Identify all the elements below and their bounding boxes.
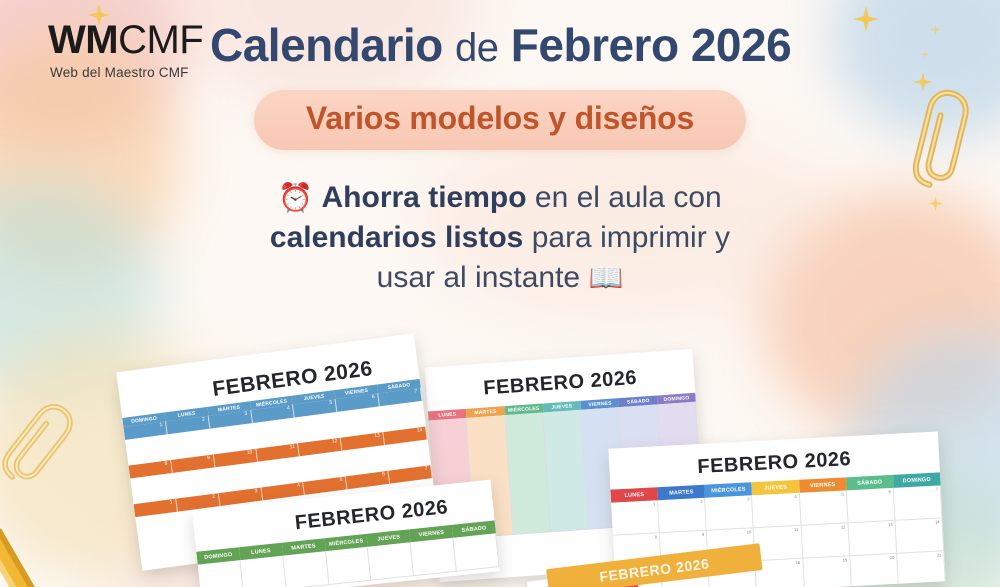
calendar-day-cell: 4 — [752, 493, 801, 528]
promo-paragraph: ⏰ Ahorra tiempo en el aula con calendari… — [170, 178, 830, 298]
calendar-day-cell — [326, 547, 372, 585]
watercolor-blob-mint-left — [0, 180, 160, 400]
calendar-day-cell — [368, 542, 414, 580]
calendar-day-cell — [411, 538, 457, 576]
calendar-day-cell: 3 — [705, 495, 754, 530]
sparkle-icon — [913, 72, 933, 92]
calendar-day-cell — [453, 533, 499, 571]
promo-line-2-bold: calendarios listos — [270, 221, 523, 254]
title-part1: Calendario — [210, 19, 443, 71]
promo-line-2-rest: para imprimir y — [523, 221, 730, 254]
subtitle-label: Varios modelos y diseños — [306, 100, 694, 137]
calendar-day-cell: 13 — [848, 521, 897, 556]
open-book-icon: 📖 — [588, 262, 623, 293]
calendar-day-cell: 7 — [894, 485, 943, 520]
brand-logo: WMCMF Web del Maestro CMF — [48, 20, 203, 80]
page-title: Calendario de Febrero 2026 — [210, 18, 791, 72]
logo-tagline: Web del Maestro CMF — [50, 65, 203, 80]
sparkle-icon — [920, 50, 929, 59]
promo-line-3: usar al instante 📖 — [170, 258, 830, 298]
calendar-day-cell: 11 — [754, 526, 803, 561]
calendar-day-cell: 20 — [850, 554, 899, 587]
calendar-day-cell: 19 — [803, 556, 852, 587]
logo-prefix: WM — [48, 18, 118, 62]
calendar-day-cell: 12 — [801, 523, 850, 558]
title-connector: de — [455, 26, 499, 70]
calendar-day-cell: 2 — [658, 498, 707, 533]
sparkle-icon — [853, 6, 879, 32]
subtitle-pill: Varios modelos y diseños — [254, 90, 746, 150]
promo-line-1-rest: en el aula con — [527, 181, 722, 214]
subtitle-banner: Varios modelos y diseños — [0, 90, 1000, 150]
promo-line-2: calendarios listos para imprimir y — [170, 218, 830, 258]
sparkle-icon — [928, 196, 943, 211]
logo-wordmark: WMCMF — [48, 20, 203, 60]
calendar-day-cell: 5 — [799, 490, 848, 525]
title-part2: Febrero 2026 — [511, 19, 791, 71]
sparkle-icon — [930, 24, 941, 35]
paperclip-icon — [0, 393, 84, 500]
promo-line-1: ⏰ Ahorra tiempo en el aula con — [170, 178, 830, 218]
calendar-day-cell — [240, 556, 286, 587]
calendar-day-cell: 1 — [611, 500, 660, 535]
promo-line-1-bold: Ahorra tiempo — [322, 181, 527, 214]
calendar-day-cell — [283, 551, 329, 587]
calendar-day-cell: 14 — [895, 518, 944, 553]
logo-suffix: CMF — [118, 18, 203, 62]
calendar-day-cell — [198, 560, 244, 587]
pencil-icon — [0, 501, 83, 587]
calendar-day-cell: 21 — [897, 551, 946, 586]
poster-canvas: WMCMF Web del Maestro CMF Calendario de … — [0, 0, 1000, 587]
alarm-clock-icon: ⏰ — [278, 182, 313, 213]
calendar-day-cell: 6 — [847, 488, 896, 523]
promo-line-3-text: usar al instante — [377, 261, 580, 294]
